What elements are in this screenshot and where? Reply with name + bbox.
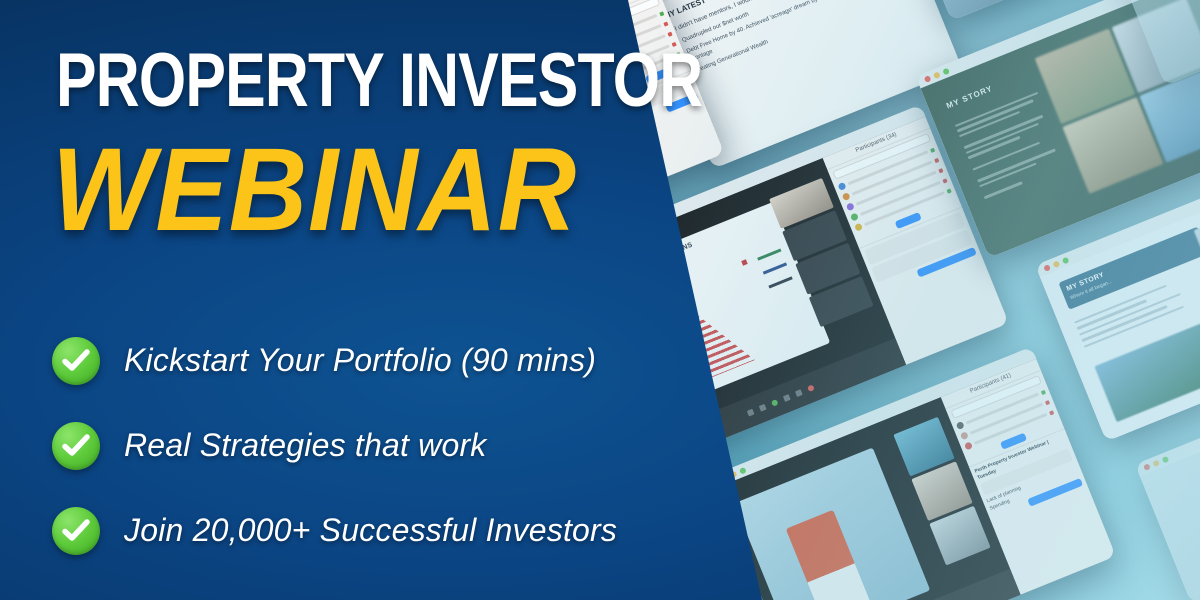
check-circle-icon [52, 507, 100, 555]
benefits-list: Kickstart Your Portfolio (90 mins) Real … [52, 318, 692, 573]
check-circle-icon [52, 337, 100, 385]
check-circle-icon [52, 422, 100, 470]
benefit-row: Real Strategies that work [52, 403, 692, 488]
page-title-line2: WEBINAR [52, 140, 577, 241]
benefit-row: Join 20,000+ Successful Investors [52, 488, 692, 573]
benefit-text: Join 20,000+ Successful Investors [124, 512, 617, 549]
headline-content: PROPERTY INVESTOR WEBINAR Kickstart Your… [0, 0, 700, 600]
page-title-line1: PROPERTY INVESTOR [56, 48, 702, 115]
benefit-row: Kickstart Your Portfolio (90 mins) [52, 318, 692, 403]
benefit-text: Kickstart Your Portfolio (90 mins) [124, 342, 596, 379]
benefit-text: Real Strategies that work [124, 427, 487, 464]
promo-banner: MY LATEST If I didn't have mentors, I wo… [0, 0, 1200, 600]
